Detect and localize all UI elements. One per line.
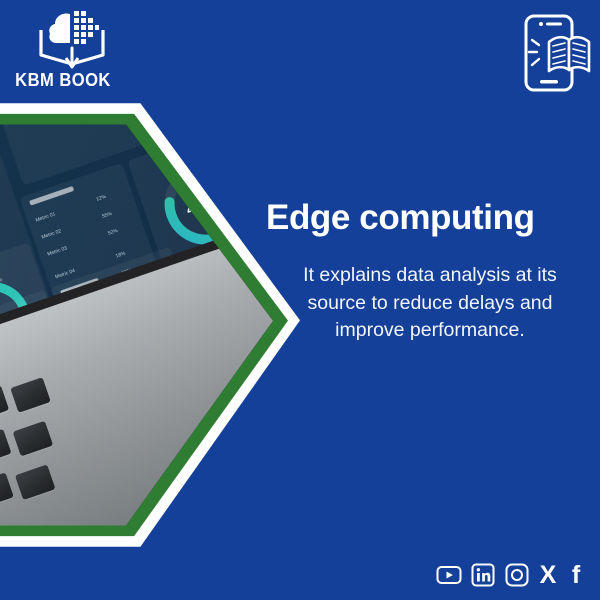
dashboard-perf-label: Performance Opt <box>241 117 273 170</box>
dashboard-time-panel: Published 7.05 AM Standard Counter 1.98 … <box>217 117 273 134</box>
instagram-icon[interactable] <box>504 562 530 588</box>
social-links: X f <box>436 562 586 588</box>
promo-card: KBM BOOK <box>0 0 600 600</box>
page-title: Edge computing <box>266 199 586 238</box>
brand-name: KBM BOOK <box>12 70 113 91</box>
book-brain-pixels-icon <box>36 8 108 70</box>
facebook-icon[interactable]: f <box>566 562 586 588</box>
body-text: It explains data analysis at its source … <box>284 262 576 345</box>
brand-logo: KBM BOOK <box>8 6 158 102</box>
linkedin-icon[interactable] <box>470 562 496 588</box>
laptop-dashboard-photo: 2.2k Metric 0112% Metric 0255% Metric 03… <box>0 117 273 533</box>
youtube-icon[interactable] <box>436 562 462 588</box>
hero-hexagon: 2.2k Metric 0112% Metric 0255% Metric 03… <box>0 95 300 555</box>
x-icon[interactable]: X <box>538 562 558 588</box>
smartphone-open-book-icon <box>506 10 592 96</box>
